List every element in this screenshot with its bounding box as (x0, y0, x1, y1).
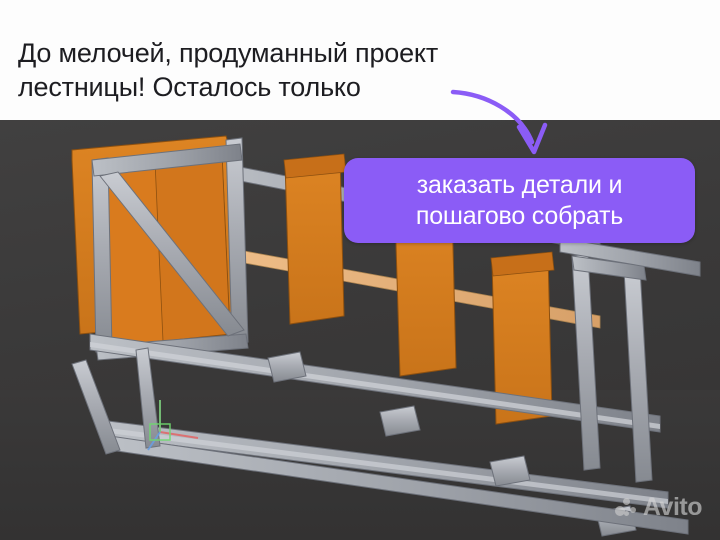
headline-text: До мелочей, продуманный проект лестницы!… (18, 36, 488, 104)
callout-text: заказать детали и пошагово собрать (406, 170, 633, 232)
avito-watermark: Avito (615, 493, 702, 522)
avito-wordmark: Avito (643, 493, 702, 522)
avito-logo-icon (615, 498, 637, 518)
ad-image: До мелочей, продуманный проект лестницы!… (0, 0, 720, 540)
callout-badge: заказать детали и пошагово собрать (344, 158, 695, 243)
headline-band: До мелочей, продуманный проект лестницы!… (0, 0, 720, 120)
cad-right-posts (572, 254, 652, 482)
